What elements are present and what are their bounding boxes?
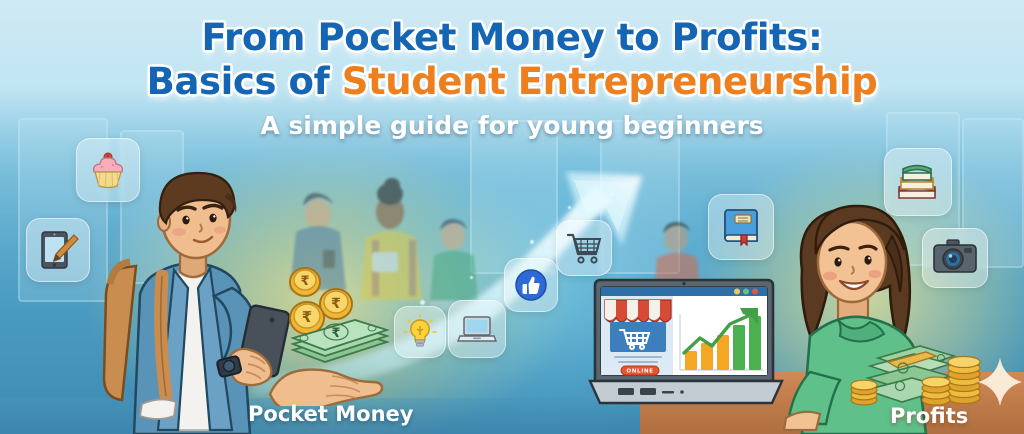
browser-dot-yellow xyxy=(734,289,740,295)
rupee-coin: ₹ xyxy=(290,302,324,334)
sparkle xyxy=(470,276,473,279)
svg-text:₹: ₹ xyxy=(300,274,309,289)
promotional-banner: ₹ ₹ ₹ ₹ xyxy=(0,0,1024,434)
book-icon xyxy=(708,194,774,260)
headline-line-1: From Pocket Money to Profits: xyxy=(0,18,1024,58)
camera-icon xyxy=(922,228,988,288)
headline-line-2-prefix: Basics of xyxy=(147,60,342,103)
laptop-with-shop-and-chart: ONLINE xyxy=(588,278,784,410)
shopping-cart-icon xyxy=(556,220,612,276)
sparkle xyxy=(610,192,614,196)
headline-line-2: Basics of Student Entrepreneurship xyxy=(0,62,1024,102)
open-hand-with-money: ₹ ₹ ₹ ₹ xyxy=(268,246,408,406)
coin-stack-mid xyxy=(922,377,950,405)
sparkle xyxy=(420,300,425,305)
svg-text:₹: ₹ xyxy=(302,308,312,326)
cupcake-icon xyxy=(76,138,140,202)
sparkle xyxy=(568,206,571,209)
tablet-paintbrush-icon xyxy=(26,218,90,282)
bar-1 xyxy=(685,351,697,370)
subtitle: A simple guide for young beginners xyxy=(0,111,1024,140)
svg-text:₹: ₹ xyxy=(331,296,341,312)
coin-stack-small xyxy=(851,380,877,405)
shop-awning xyxy=(605,300,671,322)
online-button: ONLINE xyxy=(621,366,659,375)
coin-stack-tall xyxy=(948,357,980,404)
sparkle xyxy=(530,240,534,244)
headline-line-2-highlight: Student Entrepreneurship xyxy=(342,60,878,103)
browser-dot-red xyxy=(752,289,758,295)
sparkle-star-icon xyxy=(978,358,1022,406)
svg-text:₹: ₹ xyxy=(331,326,340,341)
lightbulb-icon xyxy=(394,306,446,358)
thumbs-up-icon xyxy=(504,258,558,312)
bar-4 xyxy=(733,325,745,370)
svg-text:ONLINE: ONLINE xyxy=(626,369,653,375)
rupee-coin: ₹ xyxy=(290,268,320,296)
books-stack-icon xyxy=(884,148,952,216)
headline-block: From Pocket Money to Profits: Basics of … xyxy=(0,18,1024,140)
laptop-icon xyxy=(448,300,506,358)
bar-5 xyxy=(749,316,761,370)
caption-pocket-money: Pocket Money xyxy=(248,402,413,426)
rupee-coin: ₹ xyxy=(320,289,352,319)
caption-profits: Profits xyxy=(890,404,968,428)
money-pile xyxy=(848,340,998,408)
browser-dot-green xyxy=(743,289,749,295)
